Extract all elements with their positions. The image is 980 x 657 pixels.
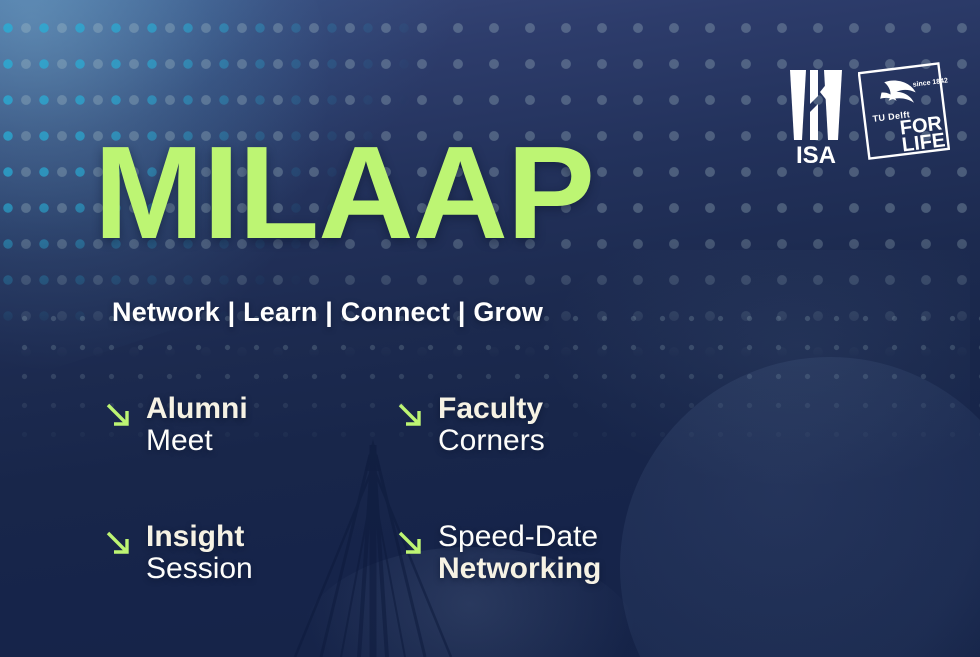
feature-item-alumni-meet: Alumni Meet	[104, 393, 396, 521]
tu-delft-for-life-logo[interactable]: TU Delft FOR LIFE since 1842	[858, 62, 950, 162]
arrow-down-right-icon	[396, 401, 426, 431]
life-label: LIFE	[901, 129, 947, 156]
feature-label-strong: Insight	[146, 521, 253, 553]
feature-label-light: Meet	[146, 425, 248, 457]
isa-logo[interactable]: ISA	[784, 62, 848, 167]
arrow-down-right-icon	[396, 529, 426, 559]
feature-label-strong: Alumni	[146, 393, 248, 425]
page-title: MILAAP	[94, 128, 594, 257]
feature-label-light: Corners	[438, 425, 545, 457]
since-label: since 1842	[912, 77, 948, 88]
isa-wordmark: ISA	[796, 142, 836, 167]
feature-label-strong: Faculty	[438, 393, 545, 425]
feature-item-speed-date-networking: Speed-Date Networking	[396, 521, 688, 584]
feature-label-light: Session	[146, 553, 253, 585]
feature-label-light: Speed-Date	[438, 521, 601, 553]
feature-item-insight-session: Insight Session	[104, 521, 396, 584]
tagline: Network | Learn | Connect | Grow	[112, 297, 543, 328]
feature-label-strong: Networking	[438, 553, 601, 585]
poster-canvas: ISA TU Delft FOR LIFE since 1842 MILAAP …	[0, 0, 980, 657]
feature-list: Alumni Meet Faculty Corners Insight Sess…	[104, 393, 724, 584]
arrow-down-right-icon	[104, 401, 134, 431]
logo-group: ISA TU Delft FOR LIFE since 1842	[784, 62, 950, 167]
feature-item-faculty-corners: Faculty Corners	[396, 393, 688, 521]
arrow-down-right-icon	[104, 529, 134, 559]
